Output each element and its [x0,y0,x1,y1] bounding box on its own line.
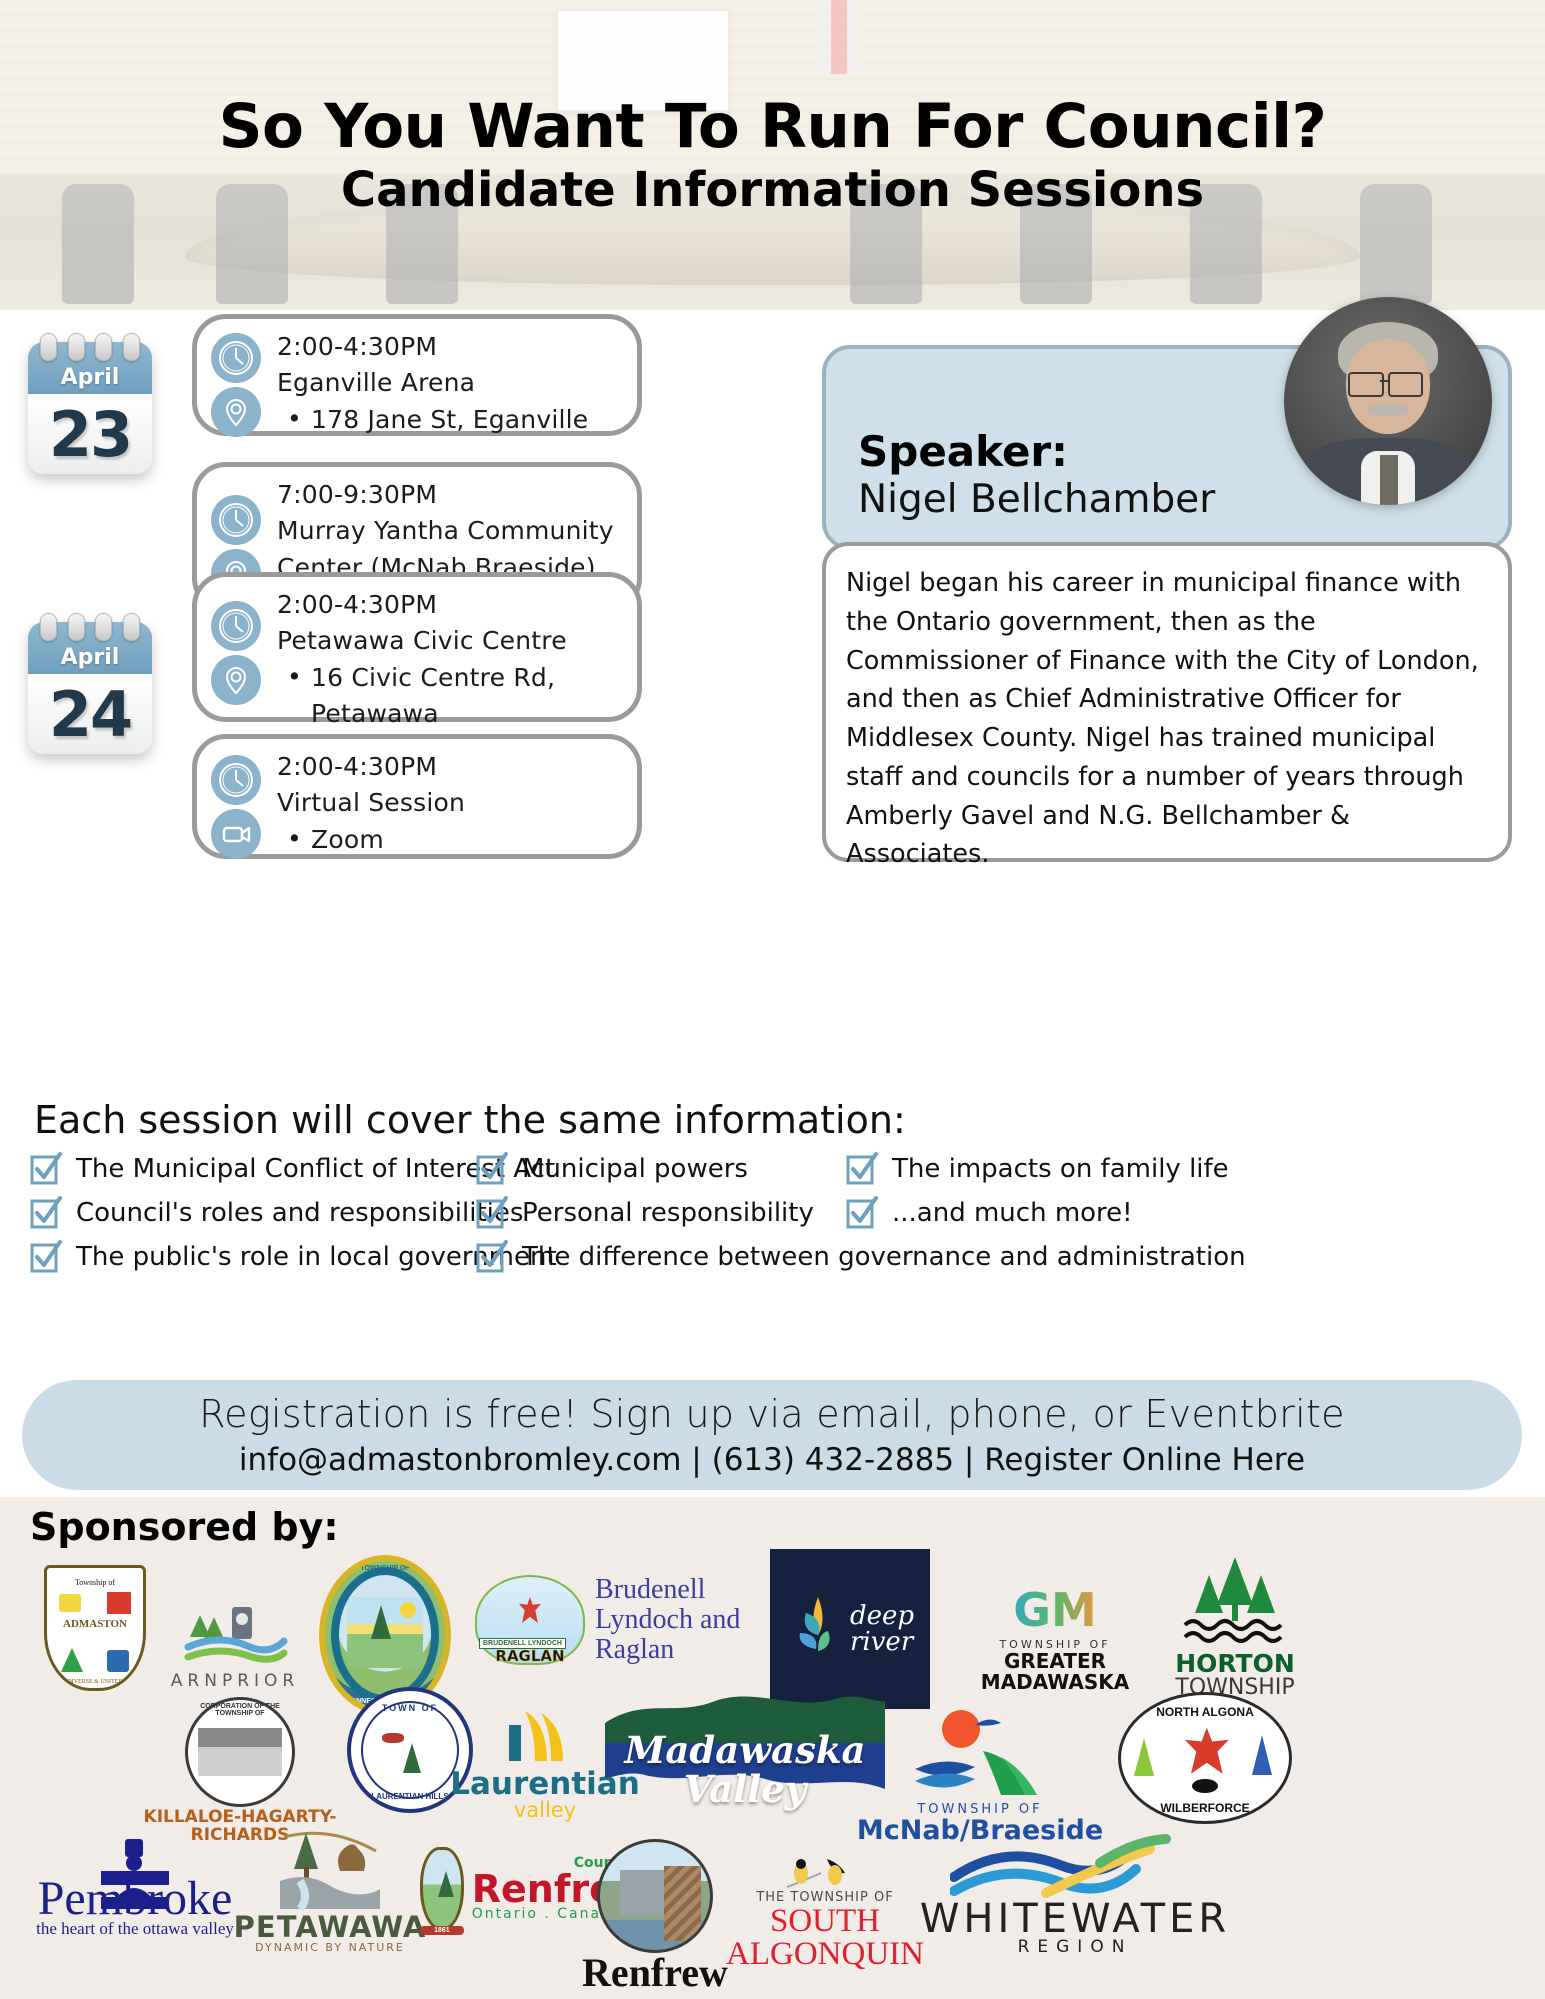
date-badge-april-24: April 24 [28,622,152,754]
sponsor-caption: TOWNSHIP OF [325,1565,445,1572]
checklist-label: The difference between governance and ad… [522,1242,1246,1272]
speaker-label: Speaker: [858,427,1068,476]
sponsor-logo-horton-township[interactable]: HORTON TOWNSHIP [1160,1555,1310,1699]
header-banner: So You Want To Run For Council? Candidat… [0,0,1545,310]
sponsor-caption: DIVERSE & UNITED [47,1679,143,1685]
speaker-bio-panel: Nigel began his career in municipal fina… [822,542,1512,862]
map-pin-icon [211,655,261,705]
sponsor-logo-deep-river[interactable]: deep river [760,1549,940,1709]
clock-icon [211,601,261,651]
speaker-headshot [1284,297,1492,505]
session-time: 7:00-9:30PM [277,477,621,513]
sponsor-logo-arnprior[interactable]: ARNPRIOR [170,1597,300,1691]
checklist-item[interactable]: Personal responsibility [476,1196,814,1230]
page-title: So You Want To Run For Council? [219,95,1327,159]
sponsor-caption: HORTON [1175,1651,1295,1676]
checkbox-checked-icon [30,1196,62,1230]
sponsor-caption: GREATER MADAWASKA [960,1651,1150,1693]
sponsor-logo-killaloe-hagarty-richards[interactable]: CORPORATION OF THE TOWNSHIP OF KILLALOE-… [130,1697,350,1845]
sponsor-logo-admaston-bromley[interactable]: Township of ADMASTON DIVERSE & UNITED [30,1565,160,1691]
checkbox-checked-icon [846,1152,878,1186]
checkbox-checked-icon [476,1196,508,1230]
session-card[interactable]: 2:00-4:30PM Virtual Session Zoom [192,734,642,859]
coverage-heading: Each session will cover the same informa… [34,1098,906,1142]
registration-sep-1: | [681,1442,711,1478]
calendar-day: 23 [49,398,131,471]
checklist-item[interactable]: Municipal powers [476,1152,748,1186]
session-location: Eganville Arena [277,365,621,401]
sponsors-title: Sponsored by: [30,1505,339,1549]
registration-phone[interactable]: (613) 432-2885 [712,1442,954,1478]
session-time: 2:00-4:30PM [277,329,621,365]
sponsor-caption: deep river [850,1603,912,1655]
sponsors-section: Sponsored by: Township of ADMASTON DIVER… [0,1497,1545,1999]
registration-link[interactable]: Register Online Here [984,1442,1305,1478]
sponsor-logo-south-algonquin[interactable]: THE TOWNSHIP OF SOUTH ALGONQUIN [700,1853,950,1971]
sponsor-caption: Pembroke [38,1877,233,1920]
sponsor-caption: TOWN OF [351,1703,469,1713]
checklist-label: The impacts on family life [892,1154,1229,1184]
sessions-section: April 23 April 24 2:00-4:30PM Eganville … [22,322,662,1062]
calendar-month: April [61,365,120,390]
speaker-name: Nigel Bellchamber [858,477,1215,522]
calendar-month: April [61,645,120,670]
checkbox-checked-icon [30,1152,62,1186]
speaker-panel: Speaker: Nigel Bellchamber [822,345,1512,550]
date-badge-april-23: April 23 [28,342,152,474]
sponsor-caption: Madawaska Valley [600,1731,890,1809]
sponsor-caption: WHITEWATER [920,1899,1230,1939]
calendar-day: 24 [49,678,131,751]
sponsor-caption: Brudenell Lyndoch and Raglan [595,1575,755,1666]
map-pin-icon [211,387,261,437]
session-location: Virtual Session [277,785,621,821]
checkbox-checked-icon [476,1152,508,1186]
sponsor-caption: SOUTH ALGONQUIN [700,1905,950,1971]
page-subtitle: Candidate Information Sessions [341,165,1204,215]
session-card[interactable]: 2:00-4:30PM Petawawa Civic Centre 16 Civ… [192,572,642,722]
registration-contact: info@admastonbromley.com | (613) 432-288… [239,1442,1305,1478]
clock-icon [211,495,261,545]
clock-icon [211,755,261,805]
sponsor-logo-brudenell-lyndoch-raglan[interactable]: BRUDENELL LYNDOCH RAGLAN Brudenell Lyndo… [470,1575,760,1666]
session-address: 178 Jane St, Eganville [277,402,621,438]
sponsor-caption: PETAWAWA [234,1913,427,1942]
checkbox-checked-icon [846,1196,878,1230]
checklist-label: ...and much more! [892,1198,1133,1228]
checklist-item[interactable]: Council's roles and responsibilities [30,1196,523,1230]
sponsor-caption: ARNPRIOR [171,1673,299,1691]
registration-email[interactable]: info@admastonbromley.com [239,1442,682,1478]
session-time: 2:00-4:30PM [277,749,621,785]
session-address: Zoom [277,822,621,858]
session-time: 2:00-4:30PM [277,587,621,623]
clock-icon [211,333,261,383]
registration-banner: Registration is free! Sign up via email,… [22,1380,1522,1490]
checklist-item[interactable]: The difference between governance and ad… [476,1240,1246,1274]
sponsor-caption: RAGLAN [475,1647,585,1665]
sponsor-caption: ADMASTON [47,1618,143,1630]
sponsor-logo-north-algona-wilberforce[interactable]: NORTH ALGONA WILBERFORCE [1110,1692,1300,1824]
sponsor-caption: CORPORATION OF THE TOWNSHIP OF [185,1703,295,1717]
sponsor-logo-whitewater-region[interactable]: WHITEWATER REGION [940,1833,1210,1957]
session-address: 16 Civic Centre Rd, Petawawa [277,660,621,733]
checkbox-checked-icon [476,1240,508,1274]
registration-sep-2: | [954,1442,984,1478]
sponsor-caption: NORTH ALGONA [1121,1705,1289,1719]
sponsor-logo-madawaska-valley[interactable]: Madawaska Valley [600,1687,890,1809]
checkbox-checked-icon [30,1240,62,1274]
checklist-label: Municipal powers [522,1154,748,1184]
sponsor-logo-mcnab-braeside[interactable]: TOWNSHIP OF McNab/Braeside [880,1707,1080,1845]
checklist-item[interactable]: ...and much more! [846,1196,1133,1230]
registration-headline: Registration is free! Sign up via email,… [199,1392,1345,1436]
session-location: Petawawa Civic Centre [277,623,621,659]
checklist-label: Council's roles and responsibilities [76,1198,523,1228]
sponsor-caption: Township of [47,1578,143,1587]
sponsor-caption: valley [514,1800,576,1821]
sponsor-logo-petawawa[interactable]: PETAWAWA DYNAMIC BY NATURE [250,1829,410,1954]
sponsor-caption: REGION [1018,1939,1133,1957]
speaker-bio: Nigel began his career in municipal fina… [846,564,1490,874]
sponsor-logo-greater-madawaska[interactable]: GM TOWNSHIP OF GREATER MADAWASKA [960,1587,1150,1693]
sponsor-caption: GM [1013,1587,1097,1633]
sponsor-caption: the heart of the ottawa valley [36,1920,234,1938]
checklist-label: Personal responsibility [522,1198,814,1228]
session-card[interactable]: 2:00-4:30PM Eganville Arena 178 Jane St,… [192,314,642,436]
sponsor-logo-pembroke[interactable]: Pembroke the heart of the ottawa valley [20,1837,250,1938]
sponsor-caption: WILBERFORCE [1121,1801,1289,1815]
video-camera-icon [211,809,261,859]
sponsor-caption: DYNAMIC BY NATURE [255,1942,405,1954]
checklist-item[interactable]: The impacts on family life [846,1152,1229,1186]
